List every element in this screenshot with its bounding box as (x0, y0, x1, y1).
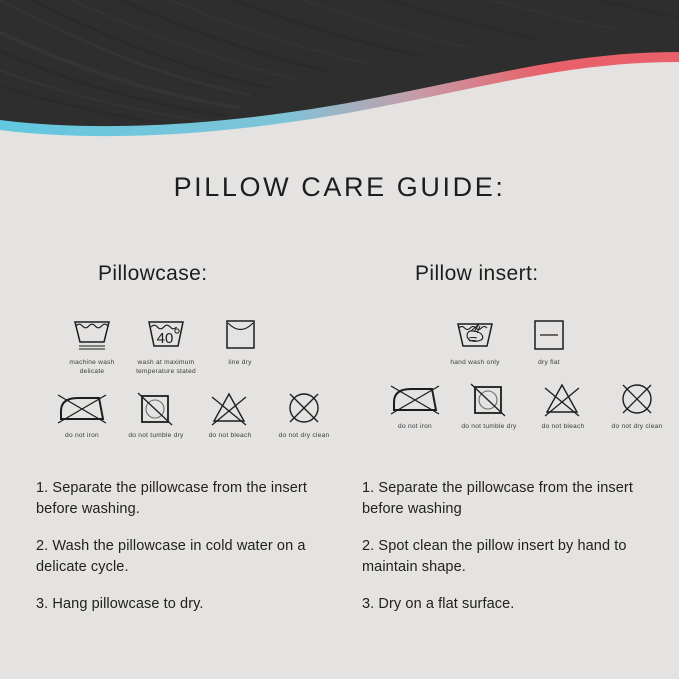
page-title: PILLOW CARE GUIDE: (0, 172, 679, 203)
icon-row-pillowcase-primary: machine washdelicate 40 wash at maximumt… (55, 316, 345, 377)
icon-caption: do not dry clean (267, 432, 341, 441)
column-pillow-insert: Pillow insert: hand wash only (378, 262, 678, 432)
icon-cell-hand-wash-only: hand wash only (438, 316, 512, 368)
step-item: 1. Separate the pillowcase from the inse… (36, 478, 336, 520)
do-not-bleach-icon (534, 380, 592, 418)
icon-cell-do-not-tumble-dry: do not tumble dry (452, 380, 526, 432)
icon-cell-machine-wash-delicate: machine washdelicate (55, 316, 129, 377)
do-not-tumble-dry-icon (460, 380, 518, 418)
icon-cell-do-not-dry-clean: do not dry clean (267, 389, 341, 441)
icon-caption: dry flat (512, 359, 586, 368)
icon-caption: do not bleach (526, 423, 600, 432)
do-not-iron-icon (51, 389, 113, 427)
icon-cell-do-not-dry-clean: do not dry clean (600, 380, 674, 432)
steps-pillow-insert: 1. Separate the pillowcase from the inse… (362, 478, 662, 615)
icon-caption: do not iron (378, 423, 452, 432)
icon-cell-do-not-iron: do not iron (45, 389, 119, 441)
step-item: 3. Dry on a flat surface. (362, 594, 662, 615)
do-not-bleach-icon (201, 389, 259, 427)
icon-caption: machine washdelicate (55, 359, 129, 377)
icon-caption: wash at maximumtemperature stated (129, 359, 203, 377)
svg-text:40: 40 (157, 330, 174, 347)
icon-cell-do-not-iron: do not iron (378, 380, 452, 432)
icon-caption: do not bleach (193, 432, 267, 441)
care-guide-page: PILLOW CARE GUIDE: Pillowcase: machine w… (0, 0, 679, 679)
steps-pillowcase: 1. Separate the pillowcase from the inse… (36, 478, 336, 615)
wash-max-temperature-40-icon: 40 (141, 316, 191, 354)
line-dry-icon (215, 316, 265, 354)
do-not-tumble-dry-icon (127, 389, 185, 427)
icon-cell-line-dry: line dry (203, 316, 277, 368)
header-banner (0, 0, 679, 140)
icon-cell-do-not-bleach: do not bleach (193, 389, 267, 441)
do-not-dry-clean-icon (608, 380, 666, 418)
dry-flat-icon (524, 316, 574, 354)
icon-row-insert-primary: hand wash only dry flat (438, 316, 678, 368)
icon-cell-dry-flat: dry flat (512, 316, 586, 368)
machine-wash-delicate-icon (67, 316, 117, 354)
icon-cell-do-not-tumble-dry: do not tumble dry (119, 389, 193, 441)
banner-graphic (0, 0, 679, 140)
icon-row-pillowcase-prohibitions: do not iron do not tumble dry (45, 389, 345, 441)
do-not-dry-clean-icon (275, 389, 333, 427)
icon-row-insert-prohibitions: do not iron do not tumble dry (378, 380, 678, 432)
step-item: 3. Hang pillowcase to dry. (36, 594, 336, 615)
icon-caption: do not dry clean (600, 423, 674, 432)
step-item: 2. Wash the pillowcase in cold water on … (36, 536, 336, 578)
column-heading-pillowcase: Pillowcase: (98, 262, 345, 286)
do-not-iron-icon (384, 380, 446, 418)
icon-caption: do not iron (45, 432, 119, 441)
step-item: 1. Separate the pillowcase from the inse… (362, 478, 662, 520)
icon-caption: do not tumble dry (119, 432, 193, 441)
column-pillowcase: Pillowcase: machine washdelicate (45, 262, 345, 441)
hand-wash-only-icon (450, 316, 500, 354)
icon-caption: hand wash only (438, 359, 512, 368)
icon-cell-wash-max-temperature: 40 wash at maximumtemperature stated (129, 316, 203, 377)
icon-caption: line dry (203, 359, 277, 368)
icon-cell-do-not-bleach: do not bleach (526, 380, 600, 432)
step-item: 2. Spot clean the pillow insert by hand … (362, 536, 662, 578)
column-heading-pillow-insert: Pillow insert: (415, 262, 678, 286)
icon-caption: do not tumble dry (452, 423, 526, 432)
